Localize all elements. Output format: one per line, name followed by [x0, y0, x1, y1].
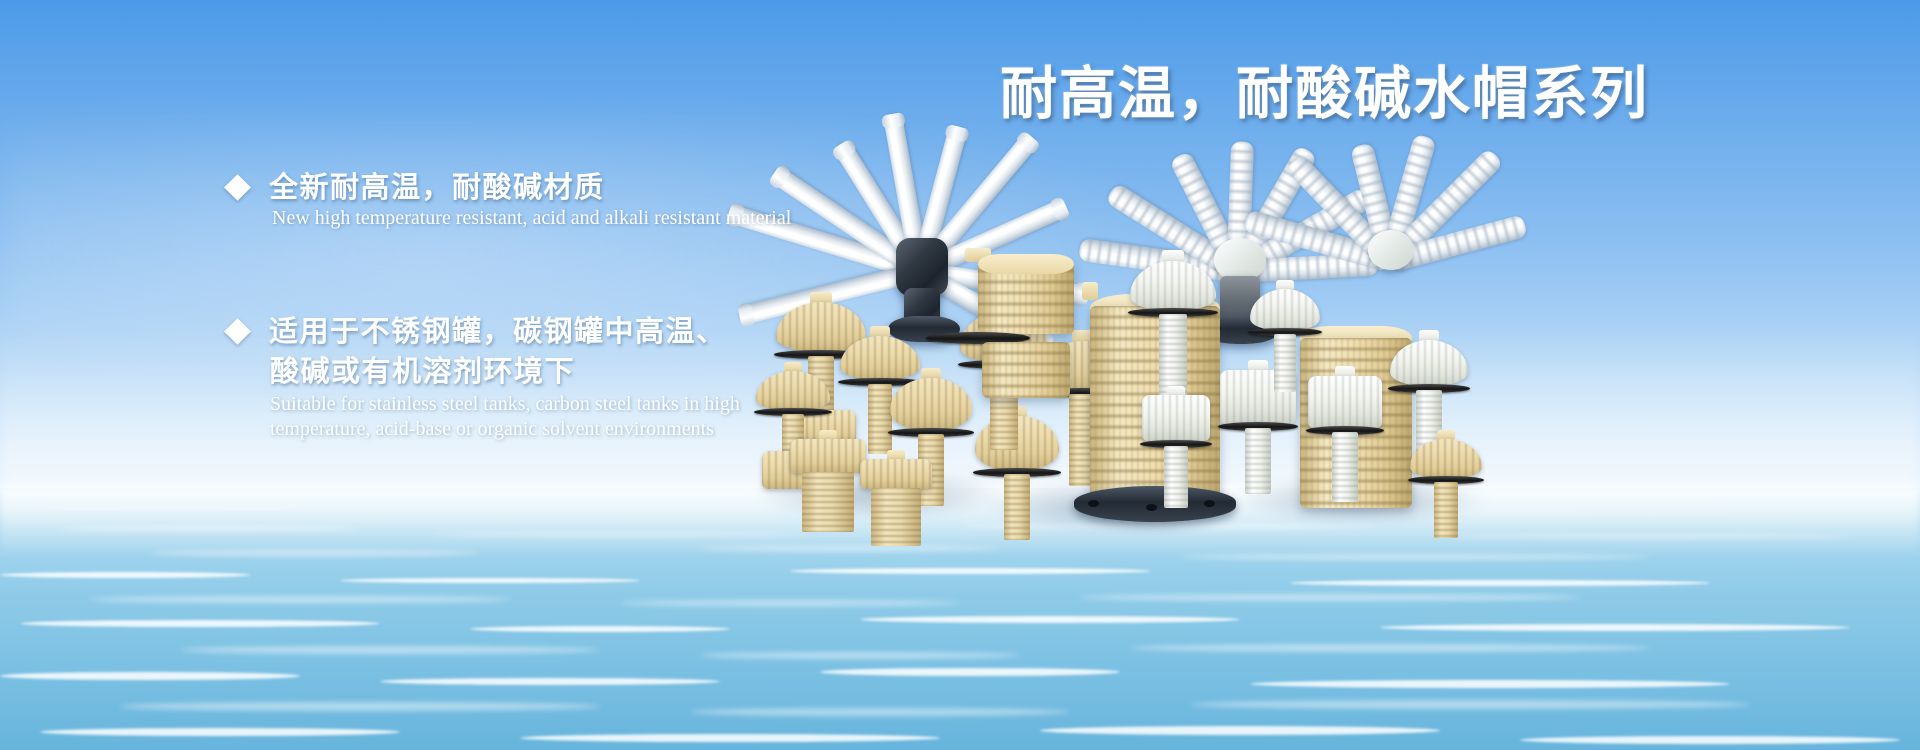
feature-2-cn-line-1: 适用于不锈钢罐，碳钢罐中高温、 — [269, 312, 727, 352]
feature-2-cn-line-2: 酸碱或有机溶剂环境下 — [270, 352, 740, 392]
diamond-bullet-icon — [224, 318, 251, 345]
beige-strainer-nozzle — [860, 450, 932, 489]
diamond-bullet-icon — [224, 174, 251, 201]
feature-1-en-line-1: New high temperature resistant, acid and… — [272, 206, 791, 231]
feature-bullet-2: 适用于不锈钢罐，碳钢罐中高温、 酸碱或有机溶剂环境下 Suitable for … — [228, 312, 740, 442]
white-strainer-nozzle — [1250, 280, 1320, 331]
banner-title: 耐高温，耐酸碱水帽系列 — [1000, 62, 1649, 128]
white-strainer-nozzle — [1308, 366, 1382, 428]
feature-bullet-1: 全新耐高温，耐酸碱材质 New high temperature resista… — [228, 168, 791, 231]
feature-2-en-line-1: Suitable for stainless steel tanks, carb… — [270, 392, 740, 417]
white-strainer-nozzle — [1130, 250, 1216, 311]
white-strainer-nozzle — [1142, 386, 1210, 441]
product-group-image — [690, 130, 1490, 550]
white-strainer-nozzle — [1390, 330, 1468, 386]
feature-1-cn-line-1: 全新耐高温，耐酸碱材质 — [269, 168, 605, 208]
beige-strainer-nozzle — [1410, 430, 1482, 479]
beige-strainer-nozzle — [790, 430, 866, 473]
beige-strainer-nozzle — [890, 368, 972, 430]
product-banner: 耐高温，耐酸碱水帽系列 全新耐高温，耐酸碱材质 New high tempera… — [0, 0, 1920, 750]
feature-2-en-line-2: temperature, acid-base or organic solven… — [270, 417, 740, 442]
